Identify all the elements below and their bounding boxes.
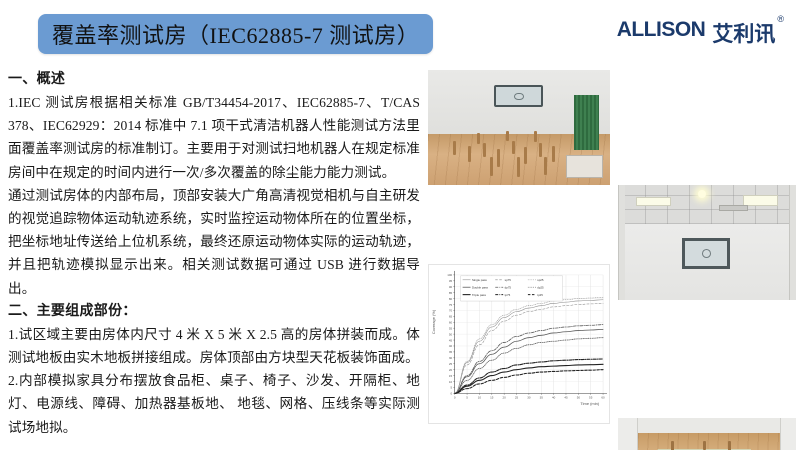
wall-column-left — [618, 185, 625, 300]
legend-label-sp25: sp25 — [537, 278, 544, 282]
svg-text:5: 5 — [450, 386, 452, 390]
legend-label-double-pass: Double pass — [472, 286, 488, 290]
legend-label-dp25: dp25 — [537, 286, 544, 290]
legend-label-dp75: dp75 — [505, 286, 512, 290]
svg-text:45: 45 — [449, 338, 453, 342]
svg-text:25: 25 — [449, 362, 453, 366]
photo-test-room-obstacles: 测试房内部 木地板 障碍柱 绿色窗帘 — [428, 70, 610, 185]
legend-label-triple-pass: Triple pass — [472, 293, 486, 297]
logo-latin-text: ALLISON — [617, 18, 706, 42]
page-title: 覆盖率测试房（IEC62885-7 测试房） — [52, 18, 419, 50]
legend-label-tp75: tp75 — [505, 293, 511, 297]
photo-room-carpet: 测试房内部 地毯 障碍柱 — [618, 418, 796, 450]
body-text-column: 一、概述 1.IEC 测试房根据相关标准 GB/T34454-2017、IEC6… — [8, 68, 420, 444]
company-logo: ALLISON 艾利讯 ® — [617, 18, 784, 48]
chart-legend: Single passsp75sp25Double passdp75dp25Tr… — [461, 276, 563, 301]
svg-text:60: 60 — [449, 321, 453, 325]
svg-text:15: 15 — [490, 396, 494, 400]
svg-text:55: 55 — [589, 396, 593, 400]
slide-page: 覆盖率测试房（IEC62885-7 测试房） ALLISON 艾利讯 ® 一、概… — [0, 0, 800, 450]
slide-header: 覆盖率测试房（IEC62885-7 测试房） ALLISON 艾利讯 ® — [0, 0, 800, 66]
svg-text:95: 95 — [449, 279, 453, 283]
paragraph-room-dimensions: 1.试区域主要由房体内尺寸 4 米 X 5 米 X 2.5 高的房体拼装而成。体… — [8, 323, 420, 369]
svg-text:50: 50 — [449, 332, 453, 336]
wall-column-right — [789, 185, 796, 300]
floor-bin — [566, 155, 602, 178]
section-heading-components: 二、主要组成部份： — [8, 300, 420, 323]
chart-y-axis-label: Coverage (%) — [431, 309, 436, 334]
svg-text:40: 40 — [552, 396, 556, 400]
door-left — [618, 418, 638, 450]
room-wall — [618, 418, 796, 434]
svg-text:35: 35 — [449, 350, 453, 354]
paragraph-tracking-system: 通过测试房体的内部布局，顶部安装大广角高清视觉相机与自主研发的视觉追踪物体运动轨… — [8, 184, 420, 300]
svg-text:80: 80 — [449, 297, 453, 301]
wood-floor — [618, 433, 796, 450]
wall-camera-panel — [494, 85, 543, 107]
ceiling-bulb — [698, 190, 706, 198]
svg-text:30: 30 — [449, 356, 453, 360]
logo-cjk-text: 艾利讯 — [712, 18, 775, 48]
svg-text:90: 90 — [449, 285, 453, 289]
svg-text:15: 15 — [449, 374, 453, 378]
legend-label-single-pass: Single pass — [472, 278, 487, 282]
svg-text:20: 20 — [503, 396, 507, 400]
legend-label-tp25: tp25 — [537, 293, 543, 297]
svg-text:0: 0 — [450, 392, 452, 396]
legend-label-sp75: sp75 — [505, 278, 512, 282]
svg-text:65: 65 — [449, 315, 453, 319]
svg-text:60: 60 — [601, 396, 605, 400]
svg-text:40: 40 — [449, 344, 453, 348]
svg-text:85: 85 — [449, 291, 453, 295]
registered-trademark-icon: ® — [777, 14, 784, 24]
svg-text:30: 30 — [527, 396, 531, 400]
title-banner: 覆盖率测试房（IEC62885-7 测试房） — [38, 14, 433, 54]
paragraph-standards: 1.IEC 测试房根据相关标准 GB/T34454-2017、IEC62885-… — [8, 91, 420, 184]
paragraph-furniture-simulation: 2.内部模拟家具分布摆放食品柜、桌子、椅子、沙发、开隔柜、地灯、电源线、障碍、加… — [8, 369, 420, 439]
chart-x-axis-label: Time (min) — [580, 401, 599, 406]
svg-text:20: 20 — [449, 368, 453, 372]
svg-text:5: 5 — [466, 396, 468, 400]
svg-text:45: 45 — [564, 396, 568, 400]
svg-text:10: 10 — [449, 380, 453, 384]
coverage-chart: 0510152025303540455055606570758085909510… — [428, 264, 610, 424]
svg-text:35: 35 — [540, 396, 544, 400]
svg-text:10: 10 — [478, 396, 482, 400]
svg-text:75: 75 — [449, 303, 453, 307]
section-heading-overview: 一、概述 — [8, 68, 420, 91]
svg-text:25: 25 — [515, 396, 519, 400]
svg-text:55: 55 — [449, 326, 453, 330]
wall-camera-panel — [682, 238, 730, 269]
green-curtain — [574, 95, 599, 150]
svg-text:70: 70 — [449, 309, 453, 313]
svg-text:50: 50 — [577, 396, 581, 400]
photo-ceiling-camera: 测试房天花板 方块型天花板 灯具 视觉相机面板 — [618, 185, 796, 300]
ceiling-vent — [719, 205, 747, 212]
svg-text:0: 0 — [454, 396, 456, 400]
door-right — [780, 418, 796, 450]
svg-text:100: 100 — [447, 273, 452, 277]
coverage-line-chart: 0510152025303540455055606570758085909510… — [429, 265, 609, 423]
ceiling-light-left — [636, 197, 672, 206]
